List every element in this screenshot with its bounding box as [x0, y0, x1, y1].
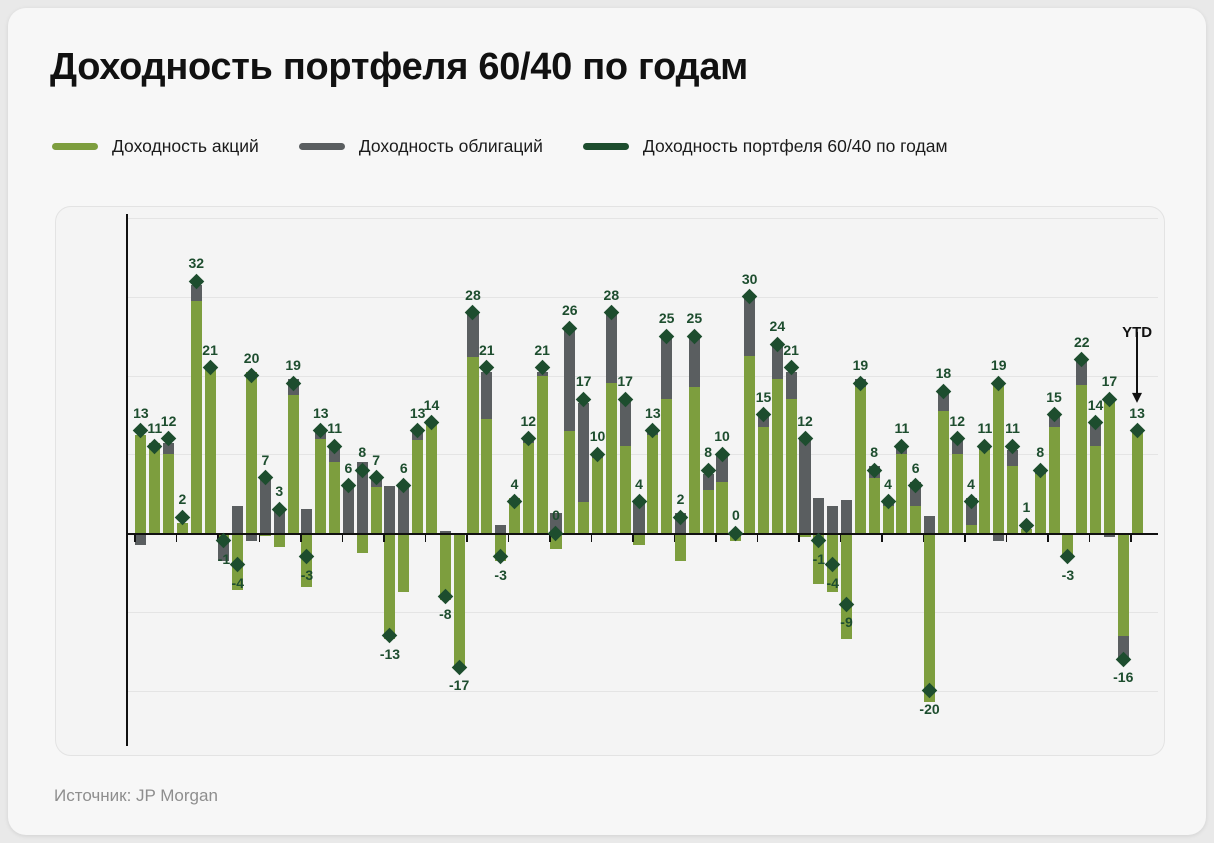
gridline: [126, 218, 1158, 219]
bar-value-label: 19: [285, 357, 301, 373]
legend-stocks[interactable]: Доходность акций: [52, 136, 259, 157]
legend-portfolio[interactable]: Доходность портфеля 60/40 по годам: [583, 136, 948, 157]
bar-stock: [1118, 533, 1129, 635]
bar-value-label: 17: [1102, 373, 1118, 389]
bar-stock: [1007, 466, 1018, 533]
x-axis-tick: [425, 535, 427, 542]
bar-value-label: 2: [677, 491, 685, 507]
zero-line: [126, 533, 1158, 535]
legend-bonds[interactable]: Доходность облигаций: [299, 136, 543, 157]
ytd-arrow-icon: [1127, 332, 1147, 407]
bar-value-label: 0: [552, 507, 560, 523]
x-axis-tick: [259, 535, 261, 542]
bar-value-label: 21: [783, 342, 799, 358]
bar-stock: [163, 454, 174, 533]
x-axis-tick: [176, 535, 178, 542]
bar-value-label: -1: [813, 551, 825, 567]
bar-stock: [966, 525, 977, 533]
bar-value-label: 17: [617, 373, 633, 389]
bar-value-label: -4: [826, 575, 838, 591]
bar-stock: [205, 369, 216, 533]
bar-bond: [495, 525, 506, 533]
bar-value-label: 7: [262, 452, 270, 468]
legend: Доходность акцийДоходность облигацийДохо…: [52, 131, 987, 161]
bar-bond: [384, 486, 395, 533]
bar-value-label: -9: [840, 614, 852, 630]
bar-value-label: 6: [912, 460, 920, 476]
bar-value-label: 32: [188, 255, 204, 271]
bar-value-label: 10: [714, 428, 730, 444]
bar-stock: [1132, 432, 1143, 533]
x-axis-tick: [466, 535, 468, 542]
bar-stock: [647, 435, 658, 533]
x-axis-tick: [715, 535, 717, 542]
bar-value-label: -3: [1062, 567, 1074, 583]
bar-value-label: 15: [1046, 389, 1062, 405]
bar-value-label: -17: [449, 677, 469, 693]
bar-stock: [357, 533, 368, 553]
bar-value-label: 8: [870, 444, 878, 460]
bar-stock: [689, 387, 700, 533]
bar-stock: [274, 533, 285, 547]
bar-bond: [232, 506, 243, 534]
x-axis-tick: [798, 535, 800, 542]
bar-value-label: 4: [511, 476, 519, 492]
bar-stock: [1076, 385, 1087, 533]
bar-stock: [675, 533, 686, 561]
bar-value-label: 7: [372, 452, 380, 468]
bar-value-label: 28: [465, 287, 481, 303]
bar-stock: [786, 399, 797, 533]
bar-value-label: 25: [687, 310, 703, 326]
bar-value-label: 17: [576, 373, 592, 389]
x-axis-tick: [383, 535, 385, 542]
bar-stock: [246, 372, 257, 533]
bar-value-label: 18: [936, 365, 952, 381]
gridline: [126, 612, 1158, 613]
bar-value-label: 11: [894, 420, 909, 436]
bar-value-label: 12: [797, 413, 813, 429]
bar-value-label: 8: [358, 444, 366, 460]
bar-stock: [592, 458, 603, 533]
bar-stock: [537, 376, 548, 534]
bar-value-label: 15: [756, 389, 772, 405]
bar-value-label: 12: [949, 413, 965, 429]
bar-stock: [855, 387, 866, 533]
x-axis-tick: [923, 535, 925, 542]
bar-value-label: 26: [562, 302, 578, 318]
bar-value-label: -1: [218, 551, 230, 567]
legend-label: Доходность облигаций: [359, 136, 543, 157]
bar-value-label: 12: [521, 413, 537, 429]
legend-label: Доходность акций: [112, 136, 259, 157]
source-note: Источник: JP Morgan: [54, 786, 218, 806]
bar-value-label: 19: [853, 357, 869, 373]
page-title: Доходность портфеля 60/40 по годам: [50, 46, 748, 89]
bar-stock: [910, 506, 921, 534]
bar-bond: [841, 500, 852, 533]
bar-stock: [1104, 401, 1115, 533]
bar-stock: [384, 533, 395, 639]
bar-stock: [398, 533, 409, 592]
bar-value-label: 3: [275, 483, 283, 499]
gridline: [126, 691, 1158, 692]
x-axis-tick: [134, 535, 136, 542]
x-axis-tick: [632, 535, 634, 542]
bar-bond: [827, 506, 838, 534]
bar-value-label: 13: [313, 405, 329, 421]
bar-stock: [938, 411, 949, 533]
chart-card: Доходность портфеля 60/40 по годам Доход…: [8, 8, 1206, 835]
bar-value-label: 13: [645, 405, 661, 421]
bar-stock: [523, 443, 534, 534]
plot-area: 13111223221-1-4207319-31311687-1361314-8…: [126, 206, 1158, 754]
bar-value-label: 25: [659, 310, 675, 326]
bar-bond: [799, 439, 810, 534]
bar-stock: [329, 462, 340, 533]
x-axis-tick: [674, 535, 676, 542]
bar-value-label: -3: [494, 567, 506, 583]
bar-stock: [952, 454, 963, 533]
bar-value-label: 20: [244, 350, 260, 366]
x-axis-tick: [1047, 535, 1049, 542]
bar-stock: [412, 440, 423, 533]
bar-value-label: 4: [635, 476, 643, 492]
bar-value-label: 1: [1022, 499, 1030, 515]
bar-value-label: -8: [439, 606, 451, 622]
bar-value-label: 11: [1005, 420, 1020, 436]
bar-stock: [703, 490, 714, 533]
bar-value-label: 11: [327, 420, 342, 436]
bar-stock: [288, 395, 299, 533]
bar-value-label: 4: [884, 476, 892, 492]
x-axis-tick: [1089, 535, 1091, 542]
bar-stock: [716, 482, 727, 533]
x-axis-tick: [508, 535, 510, 542]
bar-value-label: 4: [967, 476, 975, 492]
bar-value-label: 8: [704, 444, 712, 460]
bar-value-label: 13: [133, 405, 149, 421]
bar-stock: [578, 502, 589, 534]
bar-bond: [924, 516, 935, 533]
bar-value-label: 21: [479, 342, 495, 358]
bar-value-label: 22: [1074, 334, 1090, 350]
x-axis-tick: [591, 535, 593, 542]
legend-label: Доходность портфеля 60/40 по годам: [643, 136, 948, 157]
bar-value-label: -13: [380, 646, 400, 662]
bar-stock: [481, 419, 492, 533]
x-axis-tick: [964, 535, 966, 542]
bar-bond: [813, 498, 824, 533]
bar-stock: [993, 383, 1004, 533]
bar-stock: [149, 443, 160, 534]
bar-stock: [979, 450, 990, 533]
bar-bond: [301, 509, 312, 533]
bar-value-label: 2: [179, 491, 187, 507]
x-axis-tick: [1130, 535, 1132, 542]
bar-stock: [758, 427, 769, 533]
legend-swatch-icon: [52, 143, 98, 150]
bar-stock: [1049, 427, 1060, 533]
bar-stock: [191, 301, 202, 533]
x-axis-tick: [300, 535, 302, 542]
gridline: [126, 376, 1158, 377]
bar-value-label: -16: [1113, 669, 1133, 685]
bar-value-label: 14: [424, 397, 440, 413]
vertical-axis: [126, 214, 128, 746]
bar-bond: [260, 478, 271, 533]
bar-stock: [1035, 474, 1046, 533]
bar-value-label: -3: [301, 567, 313, 583]
bar-stock: [869, 478, 880, 533]
bar-value-label: 21: [202, 342, 218, 358]
bar-value-label: 19: [991, 357, 1007, 373]
bar-stock: [606, 383, 617, 533]
bar-stock: [564, 431, 575, 533]
bar-value-label: 6: [400, 460, 408, 476]
bar-value-label: 30: [742, 271, 758, 287]
bar-value-label: 0: [732, 507, 740, 523]
x-axis-tick: [1006, 535, 1008, 542]
bar-stock: [896, 454, 907, 533]
bar-stock: [315, 439, 326, 534]
bar-value-label: -20: [919, 701, 939, 717]
bar-stock: [744, 356, 755, 533]
bar-stock: [454, 533, 465, 667]
gridline: [126, 297, 1158, 298]
x-axis-tick: [840, 535, 842, 542]
legend-swatch-icon: [583, 143, 629, 150]
bar-stock: [924, 533, 935, 702]
bar-stock: [135, 435, 146, 533]
bar-value-label: 8: [1036, 444, 1044, 460]
x-axis-tick: [342, 535, 344, 542]
bar-value-label: -4: [232, 575, 244, 591]
bar-value-label: 6: [345, 460, 353, 476]
bar-value-label: 21: [534, 342, 550, 358]
bar-stock: [1090, 446, 1101, 533]
bar-stock: [426, 423, 437, 533]
bar-stock: [772, 379, 783, 533]
bar-stock: [371, 487, 382, 533]
legend-swatch-icon: [299, 143, 345, 150]
x-axis-tick: [881, 535, 883, 542]
bar-value-label: 12: [161, 413, 177, 429]
bar-value-label: 10: [590, 428, 606, 444]
bar-value-label: 28: [604, 287, 620, 303]
bar-stock: [467, 357, 478, 533]
bar-value-label: 11: [977, 420, 992, 436]
bar-stock: [661, 399, 672, 533]
x-axis-tick: [757, 535, 759, 542]
bar-value-label: 24: [770, 318, 786, 334]
bar-stock: [620, 446, 631, 533]
